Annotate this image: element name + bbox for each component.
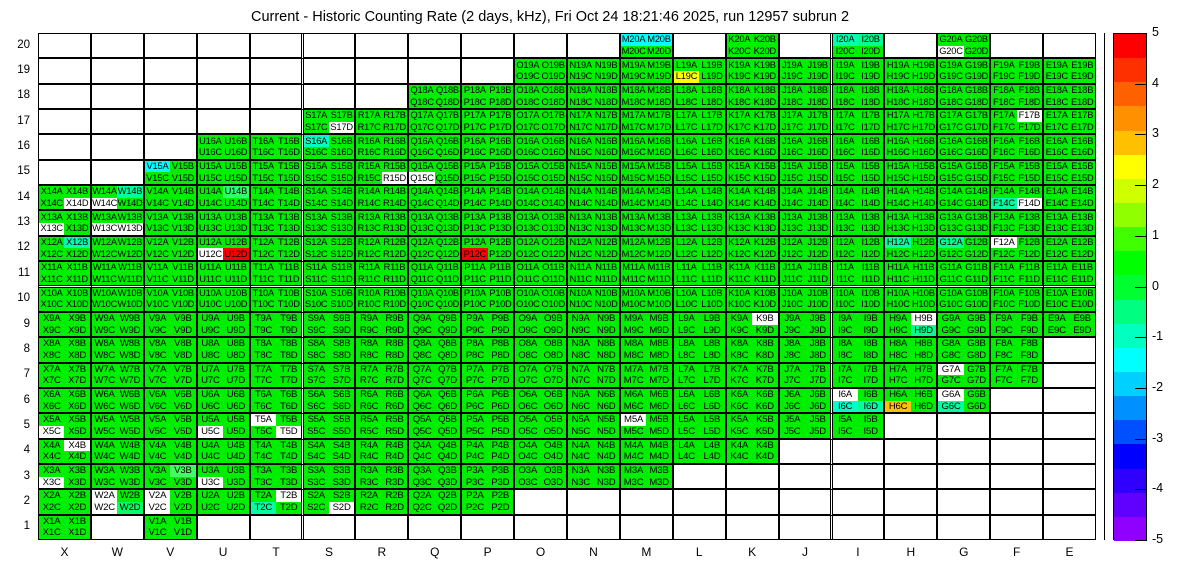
subcell-R9A[interactable]: R9A [356, 313, 381, 325]
subcell-V1D[interactable]: V1D [170, 527, 195, 539]
subcell-I8B[interactable]: I8B [858, 338, 883, 350]
subcell-V13C[interactable]: V13C [145, 223, 170, 235]
subcell-M3D[interactable]: M3D [646, 477, 671, 489]
subcell-P18C[interactable]: P18C [462, 96, 487, 108]
subcell-F8B[interactable]: F8B [1017, 338, 1042, 350]
heatmap-cell-H8[interactable]: H8AH8BH8CH8D [884, 337, 937, 362]
subcell-O12C[interactable]: O12C [515, 248, 540, 260]
subcell-U16A[interactable]: U16A [198, 135, 223, 147]
subcell-O18C[interactable]: O18C [515, 96, 540, 108]
subcell-N17A[interactable]: N17A [568, 110, 593, 122]
subcell-R10B[interactable]: R10B [382, 288, 407, 300]
subcell-T2D[interactable]: T2D [276, 502, 301, 514]
subcell-Q4D[interactable]: Q4D [435, 451, 460, 463]
subcell-F7A[interactable]: F7A [991, 364, 1016, 376]
subcell-H15B[interactable]: H15B [911, 161, 936, 173]
subcell-P13A[interactable]: P13A [462, 211, 487, 223]
subcell-H17D[interactable]: H17D [911, 122, 936, 134]
heatmap-cell-X18[interactable] [38, 84, 91, 109]
subcell-J11A[interactable]: J11A [780, 262, 805, 274]
heatmap-cell-U6[interactable]: U6AU6BU6CU6D [197, 388, 250, 413]
heatmap-cell-O18[interactable]: O18AO18BO18CO18D [514, 84, 567, 109]
heatmap-plot[interactable]: M20AM20BM20CM20DK20AK20BK20CK20DI20AI20B… [38, 33, 1096, 540]
subcell-X8A[interactable]: X8A [39, 338, 64, 350]
heatmap-cell-Q18[interactable]: Q18AQ18BQ18CQ18D [408, 84, 461, 109]
heatmap-cell-S17[interactable]: S17AS17BS17CS17D [303, 109, 356, 134]
subcell-T10D[interactable]: T10D [276, 299, 301, 311]
subcell-R17D[interactable]: R17D [382, 122, 407, 134]
subcell-U15C[interactable]: U15C [198, 172, 223, 184]
subcell-X2A[interactable]: X2A [39, 490, 64, 502]
subcell-E9A[interactable]: E9A [1044, 313, 1069, 325]
subcell-J10B[interactable]: J10B [805, 288, 830, 300]
subcell-U9A[interactable]: U9A [198, 313, 223, 325]
subcell-P3A[interactable]: P3A [462, 465, 487, 477]
subcell-Q4B[interactable]: Q4B [435, 440, 460, 452]
heatmap-cell-P12[interactable]: P12AP12BP12CP12D [461, 236, 514, 261]
subcell-O9B[interactable]: O9B [541, 313, 566, 325]
subcell-O9D[interactable]: O9D [541, 325, 566, 337]
subcell-R15D[interactable]: R15D [382, 172, 407, 184]
subcell-F12B[interactable]: F12B [1017, 237, 1042, 249]
subcell-S6B[interactable]: S6B [329, 389, 354, 401]
heatmap-cell-P17[interactable]: P17AP17BP17CP17D [461, 109, 514, 134]
subcell-H17B[interactable]: H17B [911, 110, 936, 122]
heatmap-cell-H2[interactable] [884, 489, 937, 514]
subcell-J14C[interactable]: J14C [780, 198, 805, 210]
subcell-G14D[interactable]: G14D [964, 198, 989, 210]
subcell-N6C[interactable]: N6C [568, 401, 593, 413]
subcell-S2D[interactable]: S2D [329, 502, 354, 514]
subcell-G6D[interactable]: G6D [964, 401, 989, 413]
subcell-W9A[interactable]: W9A [92, 313, 117, 325]
subcell-L4B[interactable]: L4B [699, 440, 724, 452]
subcell-J8D[interactable]: J8D [805, 350, 830, 362]
subcell-Q2B[interactable]: Q2B [435, 490, 460, 502]
heatmap-cell-K14[interactable]: K14AK14BK14CK14D [726, 185, 779, 210]
subcell-W2D[interactable]: W2D [117, 502, 142, 514]
subcell-J13B[interactable]: J13B [805, 211, 830, 223]
subcell-R9B[interactable]: R9B [382, 313, 407, 325]
subcell-S17C[interactable]: S17C [304, 122, 329, 134]
subcell-U13C[interactable]: U13C [198, 223, 223, 235]
subcell-T11A[interactable]: T11A [251, 262, 276, 274]
subcell-O5A[interactable]: O5A [515, 414, 540, 426]
subcell-P12D[interactable]: P12D [488, 248, 513, 260]
subcell-R11B[interactable]: R11B [382, 262, 407, 274]
subcell-X8C[interactable]: X8C [39, 350, 64, 362]
heatmap-cell-M13[interactable]: M13AM13BM13CM13D [620, 210, 673, 235]
subcell-V10B[interactable]: V10B [170, 288, 195, 300]
subcell-O6A[interactable]: O6A [515, 389, 540, 401]
subcell-U3C[interactable]: U3C [198, 477, 223, 489]
subcell-T15C[interactable]: T15C [251, 172, 276, 184]
subcell-V8B[interactable]: V8B [170, 338, 195, 350]
heatmap-cell-H1[interactable] [884, 515, 937, 540]
heatmap-cell-N17[interactable]: N17AN17BN17CN17D [567, 109, 620, 134]
subcell-V7B[interactable]: V7B [170, 364, 195, 376]
subcell-U7C[interactable]: U7C [198, 375, 223, 387]
subcell-G18C[interactable]: G18C [938, 96, 963, 108]
heatmap-cell-Q19[interactable] [408, 58, 461, 83]
subcell-K5C[interactable]: K5C [727, 426, 752, 438]
subcell-W10C[interactable]: W10C [92, 299, 117, 311]
heatmap-cell-U9[interactable]: U9AU9BU9CU9D [197, 312, 250, 337]
subcell-X8B[interactable]: X8B [64, 338, 89, 350]
subcell-T8D[interactable]: T8D [276, 350, 301, 362]
subcell-T4D[interactable]: T4D [276, 451, 301, 463]
subcell-L18B[interactable]: L18B [699, 85, 724, 97]
heatmap-cell-U15[interactable]: U15AU15BU15CU15D [197, 160, 250, 185]
subcell-W13C[interactable]: W13C [92, 223, 117, 235]
heatmap-cell-X17[interactable] [38, 109, 91, 134]
subcell-S8C[interactable]: S8C [304, 350, 329, 362]
heatmap-cell-V18[interactable] [144, 84, 197, 109]
heatmap-cell-K8[interactable]: K8AK8BK8CK8D [726, 337, 779, 362]
heatmap-cell-E5[interactable] [1043, 413, 1096, 438]
subcell-M15A[interactable]: M15A [621, 161, 646, 173]
subcell-H15D[interactable]: H15D [911, 172, 936, 184]
heatmap-cell-L20[interactable] [673, 33, 726, 58]
subcell-M5B[interactable]: M5B [646, 414, 671, 426]
heatmap-cell-U18[interactable] [197, 84, 250, 109]
subcell-K11D[interactable]: K11D [752, 274, 777, 286]
subcell-O8B[interactable]: O8B [541, 338, 566, 350]
subcell-S4A[interactable]: S4A [304, 440, 329, 452]
subcell-I10C[interactable]: I10C [833, 299, 858, 311]
subcell-N19B[interactable]: N19B [593, 59, 618, 71]
subcell-H11C[interactable]: H11C [885, 274, 910, 286]
subcell-W11A[interactable]: W11A [92, 262, 117, 274]
subcell-X2D[interactable]: X2D [64, 502, 89, 514]
subcell-R8A[interactable]: R8A [356, 338, 381, 350]
subcell-O17D[interactable]: O17D [541, 122, 566, 134]
subcell-X11A[interactable]: X11A [39, 262, 64, 274]
subcell-V4A[interactable]: V4A [145, 440, 170, 452]
subcell-P9B[interactable]: P9B [488, 313, 513, 325]
subcell-J16B[interactable]: J16B [805, 135, 830, 147]
heatmap-cell-K5[interactable]: K5AK5BK5CK5D [726, 413, 779, 438]
subcell-T15D[interactable]: T15D [276, 172, 301, 184]
subcell-J15B[interactable]: J15B [805, 161, 830, 173]
subcell-T14D[interactable]: T14D [276, 198, 301, 210]
heatmap-cell-V17[interactable] [144, 109, 197, 134]
heatmap-cell-U11[interactable]: U11AU11BU11CU11D [197, 261, 250, 286]
subcell-M10C[interactable]: M10C [621, 299, 646, 311]
subcell-O11C[interactable]: O11C [515, 274, 540, 286]
heatmap-cell-N18[interactable]: N18AN18BN18CN18D [567, 84, 620, 109]
subcell-X3C[interactable]: X3C [39, 477, 64, 489]
subcell-X1C[interactable]: X1C [39, 527, 64, 539]
subcell-O5B[interactable]: O5B [541, 414, 566, 426]
subcell-P13C[interactable]: P13C [462, 223, 487, 235]
heatmap-cell-L5[interactable]: L5AL5BL5CL5D [673, 413, 726, 438]
heatmap-cell-F1[interactable] [990, 515, 1043, 540]
heatmap-cell-T19[interactable] [250, 58, 303, 83]
subcell-R6B[interactable]: R6B [382, 389, 407, 401]
subcell-E19D[interactable]: E19D [1070, 71, 1095, 83]
heatmap-cell-S12[interactable]: S12AS12BS12CS12D [303, 236, 356, 261]
subcell-F10D[interactable]: F10D [1017, 299, 1042, 311]
subcell-O7B[interactable]: O7B [541, 364, 566, 376]
subcell-M15B[interactable]: M15B [646, 161, 671, 173]
heatmap-cell-R18[interactable] [355, 84, 408, 109]
heatmap-cell-G13[interactable]: G13AG13BG13CG13D [937, 210, 990, 235]
subcell-G8A[interactable]: G8A [938, 338, 963, 350]
heatmap-cell-G1[interactable] [937, 515, 990, 540]
heatmap-cell-L11[interactable]: L11AL11BL11CL11D [673, 261, 726, 286]
subcell-I17A[interactable]: I17A [833, 110, 858, 122]
heatmap-cell-T4[interactable]: T4AT4BT4CT4D [250, 439, 303, 464]
heatmap-cell-E9[interactable]: E9AE9BE9CE9D [1043, 312, 1096, 337]
subcell-H18D[interactable]: H18D [911, 96, 936, 108]
heatmap-cell-S5[interactable]: S5AS5BS5CS5D [303, 413, 356, 438]
heatmap-cell-U12[interactable]: U12AU12BU12CU12D [197, 236, 250, 261]
subcell-R14A[interactable]: R14A [356, 186, 381, 198]
subcell-K18D[interactable]: K18D [752, 96, 777, 108]
subcell-G8D[interactable]: G8D [964, 350, 989, 362]
subcell-L8C[interactable]: L8C [674, 350, 699, 362]
subcell-S16D[interactable]: S16D [329, 147, 354, 159]
subcell-W11C[interactable]: W11C [92, 274, 117, 286]
subcell-X13D[interactable]: X13D [64, 223, 89, 235]
subcell-P6B[interactable]: P6B [488, 389, 513, 401]
heatmap-cell-H12[interactable]: H12AH12BH12CH12D [884, 236, 937, 261]
heatmap-cell-R13[interactable]: R13AR13BR13CR13D [355, 210, 408, 235]
subcell-F7C[interactable]: F7C [991, 375, 1016, 387]
subcell-L9C[interactable]: L9C [674, 325, 699, 337]
subcell-J8B[interactable]: J8B [805, 338, 830, 350]
heatmap-cell-O5[interactable]: O5AO5BO5CO5D [514, 413, 567, 438]
heatmap-cell-G8[interactable]: G8AG8BG8CG8D [937, 337, 990, 362]
subcell-G12C[interactable]: G12C [938, 248, 963, 260]
heatmap-cell-W11[interactable]: W11AW11BW11CW11D [91, 261, 144, 286]
heatmap-cell-J11[interactable]: J11AJ11BJ11CJ11D [779, 261, 832, 286]
heatmap-cell-Q7[interactable]: Q7AQ7BQ7CQ7D [408, 363, 461, 388]
subcell-X10C[interactable]: X10C [39, 299, 64, 311]
subcell-P14B[interactable]: P14B [488, 186, 513, 198]
subcell-N5A[interactable]: N5A [568, 414, 593, 426]
subcell-R15C[interactable]: R15C [356, 172, 381, 184]
subcell-K5B[interactable]: K5B [752, 414, 777, 426]
subcell-N4D[interactable]: N4D [593, 451, 618, 463]
subcell-M7C[interactable]: M7C [621, 375, 646, 387]
subcell-E14D[interactable]: E14D [1070, 198, 1095, 210]
subcell-T10B[interactable]: T10B [276, 288, 301, 300]
subcell-I5C[interactable]: I5C [833, 426, 858, 438]
subcell-P13B[interactable]: P13B [488, 211, 513, 223]
heatmap-cell-X5[interactable]: X5AX5BX5CX5D [38, 413, 91, 438]
subcell-I11D[interactable]: I11D [858, 274, 883, 286]
subcell-Q8B[interactable]: Q8B [435, 338, 460, 350]
subcell-K7C[interactable]: K7C [727, 375, 752, 387]
subcell-V7C[interactable]: V7C [145, 375, 170, 387]
heatmap-cell-F16[interactable]: F16AF16BF16CF16D [990, 134, 1043, 159]
subcell-I18C[interactable]: I18C [833, 96, 858, 108]
subcell-S9C[interactable]: S9C [304, 325, 329, 337]
heatmap-cell-S11[interactable]: S11AS11BS11CS11D [303, 261, 356, 286]
subcell-L15C[interactable]: L15C [674, 172, 699, 184]
heatmap-cell-U10[interactable]: U10AU10BU10CU10D [197, 287, 250, 312]
subcell-O8C[interactable]: O8C [515, 350, 540, 362]
subcell-O13C[interactable]: O13C [515, 223, 540, 235]
subcell-P7B[interactable]: P7B [488, 364, 513, 376]
subcell-W10D[interactable]: W10D [117, 299, 142, 311]
subcell-T13C[interactable]: T13C [251, 223, 276, 235]
subcell-F19C[interactable]: F19C [991, 71, 1016, 83]
subcell-G9A[interactable]: G9A [938, 313, 963, 325]
heatmap-cell-J12[interactable]: J12AJ12BJ12CJ12D [779, 236, 832, 261]
subcell-H7A[interactable]: H7A [885, 364, 910, 376]
subcell-V7A[interactable]: V7A [145, 364, 170, 376]
subcell-R7B[interactable]: R7B [382, 364, 407, 376]
subcell-T2B[interactable]: T2B [276, 490, 301, 502]
heatmap-cell-S2[interactable]: S2AS2BS2CS2D [303, 489, 356, 514]
subcell-G7A[interactable]: G7A [938, 364, 963, 376]
heatmap-cell-F13[interactable]: F13AF13BF13CF13D [990, 210, 1043, 235]
heatmap-cell-L10[interactable]: L10AL10BL10CL10D [673, 287, 726, 312]
subcell-M17B[interactable]: M17B [646, 110, 671, 122]
subcell-P10B[interactable]: P10B [488, 288, 513, 300]
subcell-M13D[interactable]: M13D [646, 223, 671, 235]
subcell-R11A[interactable]: R11A [356, 262, 381, 274]
heatmap-cell-M6[interactable]: M6AM6BM6CM6D [620, 388, 673, 413]
subcell-Q9B[interactable]: Q9B [435, 313, 460, 325]
heatmap-cell-V3[interactable]: V3AV3BV3CV3D [144, 464, 197, 489]
heatmap-cell-G9[interactable]: G9AG9BG9CG9D [937, 312, 990, 337]
subcell-R14C[interactable]: R14C [356, 198, 381, 210]
subcell-L12A[interactable]: L12A [674, 237, 699, 249]
subcell-N12B[interactable]: N12B [593, 237, 618, 249]
heatmap-cell-E12[interactable]: E12AE12BE12CE12D [1043, 236, 1096, 261]
subcell-U5C[interactable]: U5C [198, 426, 223, 438]
subcell-O12A[interactable]: O12A [515, 237, 540, 249]
subcell-H11A[interactable]: H11A [885, 262, 910, 274]
subcell-R16C[interactable]: R16C [356, 147, 381, 159]
heatmap-cell-T5[interactable]: T5AT5BT5CT5D [250, 413, 303, 438]
subcell-N18C[interactable]: N18C [568, 96, 593, 108]
subcell-F10C[interactable]: F10C [991, 299, 1016, 311]
subcell-S16A[interactable]: S16A [304, 135, 329, 147]
subcell-E15B[interactable]: E15B [1070, 161, 1095, 173]
subcell-P5C[interactable]: P5C [462, 426, 487, 438]
subcell-T11C[interactable]: T11C [251, 274, 276, 286]
subcell-K12B[interactable]: K12B [752, 237, 777, 249]
subcell-L6A[interactable]: L6A [674, 389, 699, 401]
subcell-W7C[interactable]: W7C [92, 375, 117, 387]
subcell-F15C[interactable]: F15C [991, 172, 1016, 184]
subcell-O8D[interactable]: O8D [541, 350, 566, 362]
heatmap-cell-W18[interactable] [91, 84, 144, 109]
subcell-X12B[interactable]: X12B [64, 237, 89, 249]
subcell-J9B[interactable]: J9B [805, 313, 830, 325]
subcell-M12A[interactable]: M12A [621, 237, 646, 249]
subcell-P15B[interactable]: P15B [488, 161, 513, 173]
heatmap-cell-M15[interactable]: M15AM15BM15CM15D [620, 160, 673, 185]
subcell-Q17B[interactable]: Q17B [435, 110, 460, 122]
subcell-Q14C[interactable]: Q14C [409, 198, 434, 210]
subcell-N14D[interactable]: N14D [593, 198, 618, 210]
subcell-X12A[interactable]: X12A [39, 237, 64, 249]
subcell-U10B[interactable]: U10B [223, 288, 248, 300]
subcell-N9D[interactable]: N9D [593, 325, 618, 337]
subcell-L16A[interactable]: L16A [674, 135, 699, 147]
subcell-V9C[interactable]: V9C [145, 325, 170, 337]
subcell-P18D[interactable]: P18D [488, 96, 513, 108]
subcell-H10D[interactable]: H10D [911, 299, 936, 311]
subcell-L16B[interactable]: L16B [699, 135, 724, 147]
subcell-M8D[interactable]: M8D [646, 350, 671, 362]
subcell-X13B[interactable]: X13B [64, 211, 89, 223]
heatmap-cell-M11[interactable]: M11AM11BM11CM11D [620, 261, 673, 286]
subcell-O14A[interactable]: O14A [515, 186, 540, 198]
subcell-N15C[interactable]: N15C [568, 172, 593, 184]
subcell-M9D[interactable]: M9D [646, 325, 671, 337]
subcell-N8A[interactable]: N8A [568, 338, 593, 350]
subcell-V12A[interactable]: V12A [145, 237, 170, 249]
heatmap-cell-E17[interactable]: E17AE17BE17CE17D [1043, 109, 1096, 134]
heatmap-cell-W20[interactable] [91, 33, 144, 58]
subcell-M19C[interactable]: M19C [621, 71, 646, 83]
subcell-X12D[interactable]: X12D [64, 248, 89, 260]
subcell-F17C[interactable]: F17C [991, 122, 1016, 134]
subcell-P11C[interactable]: P11C [462, 274, 487, 286]
subcell-L5D[interactable]: L5D [699, 426, 724, 438]
subcell-N11C[interactable]: N11C [568, 274, 593, 286]
subcell-E16C[interactable]: E16C [1044, 147, 1069, 159]
subcell-I12D[interactable]: I12D [858, 248, 883, 260]
subcell-V11A[interactable]: V11A [145, 262, 170, 274]
subcell-M11C[interactable]: M11C [621, 274, 646, 286]
subcell-Q10C[interactable]: Q10C [409, 299, 434, 311]
subcell-E16A[interactable]: E16A [1044, 135, 1069, 147]
subcell-M12D[interactable]: M12D [646, 248, 671, 260]
subcell-G6B[interactable]: G6B [964, 389, 989, 401]
subcell-K7A[interactable]: K7A [727, 364, 752, 376]
subcell-L9B[interactable]: L9B [699, 313, 724, 325]
subcell-U6A[interactable]: U6A [198, 389, 223, 401]
subcell-H6A[interactable]: H6A [885, 389, 910, 401]
heatmap-cell-P5[interactable]: P5AP5BP5CP5D [461, 413, 514, 438]
heatmap-cell-V19[interactable] [144, 58, 197, 83]
heatmap-cell-J5[interactable]: J5AJ5BJ5CJ5D [779, 413, 832, 438]
subcell-E11C[interactable]: E11C [1044, 274, 1069, 286]
subcell-V2C[interactable]: V2C [145, 502, 170, 514]
subcell-K7B[interactable]: K7B [752, 364, 777, 376]
subcell-E9C[interactable]: E9C [1044, 325, 1069, 337]
heatmap-cell-I7[interactable]: I7AI7BI7CI7D [832, 363, 885, 388]
subcell-W5A[interactable]: W5A [92, 414, 117, 426]
subcell-N8C[interactable]: N8C [568, 350, 593, 362]
subcell-V8A[interactable]: V8A [145, 338, 170, 350]
subcell-Q9C[interactable]: Q9C [409, 325, 434, 337]
heatmap-cell-L15[interactable]: L15AL15BL15CL15D [673, 160, 726, 185]
subcell-H17C[interactable]: H17C [885, 122, 910, 134]
subcell-U13A[interactable]: U13A [198, 211, 223, 223]
subcell-J5B[interactable]: J5B [805, 414, 830, 426]
subcell-F16B[interactable]: F16B [1017, 135, 1042, 147]
subcell-G13C[interactable]: G13C [938, 223, 963, 235]
subcell-M13A[interactable]: M13A [621, 211, 646, 223]
subcell-P4C[interactable]: P4C [462, 451, 487, 463]
heatmap-cell-S13[interactable]: S13AS13BS13CS13D [303, 210, 356, 235]
subcell-K18C[interactable]: K18C [727, 96, 752, 108]
subcell-F9D[interactable]: F9D [1017, 325, 1042, 337]
heatmap-cell-T20[interactable] [250, 33, 303, 58]
subcell-H13D[interactable]: H13D [911, 223, 936, 235]
heatmap-cell-R19[interactable] [355, 58, 408, 83]
subcell-R13B[interactable]: R13B [382, 211, 407, 223]
